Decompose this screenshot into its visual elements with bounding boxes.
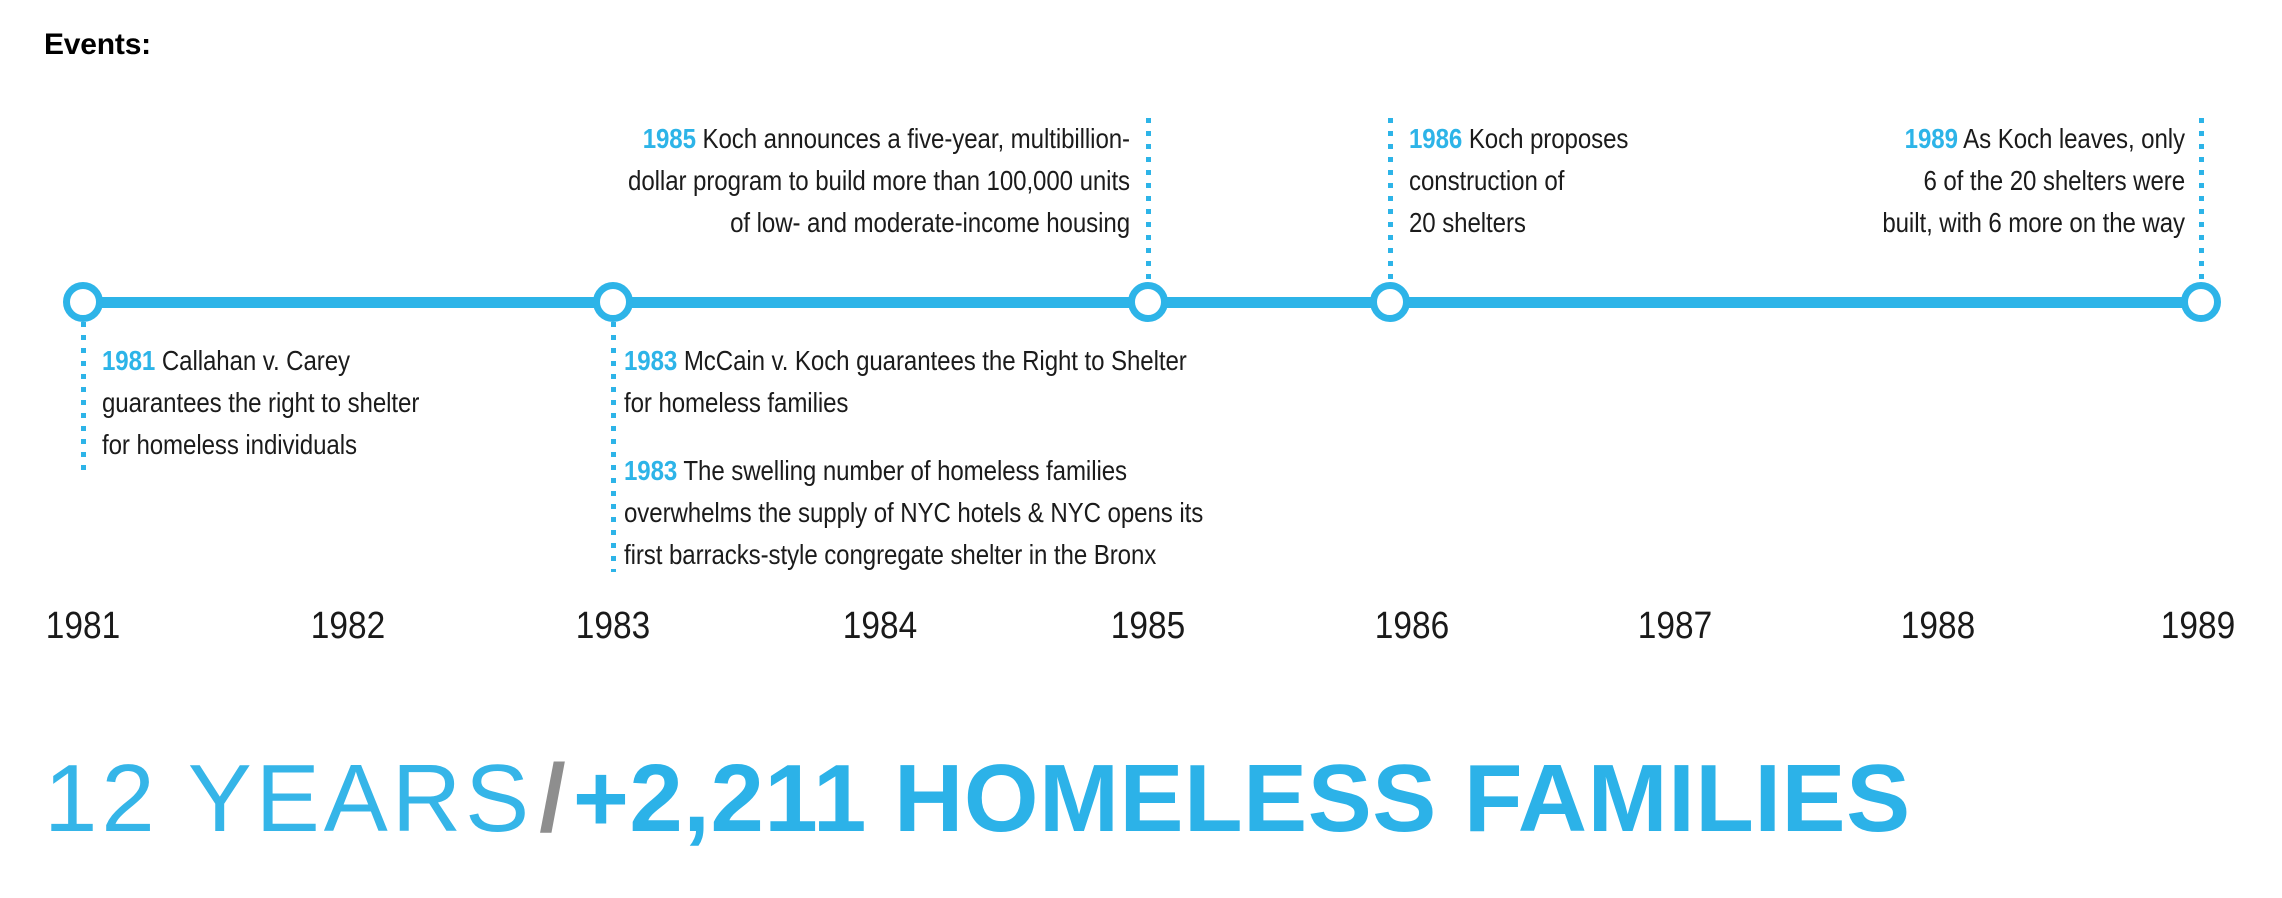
axis-year-label-1985: 1985 [1060, 605, 1236, 648]
axis-year-label-1982: 1982 [260, 605, 436, 648]
summary-duration: 12 YEARS [44, 745, 533, 852]
axis-year-label-1983: 1983 [525, 605, 701, 648]
event-text-1983-shelter-line1: The swelling number of homeless families [683, 455, 1127, 486]
event-annotation-1983-mccain: 1983 McCain v. Koch guarantees the Right… [624, 340, 1312, 424]
axis-year-label-1986: 1986 [1324, 605, 1500, 648]
axis-year-label-1981: 1981 [0, 605, 171, 648]
event-annotation-1989: 1989 As Koch leaves, only 6 of the 20 sh… [1798, 118, 2185, 244]
event-text-1983-mccain-line2: for homeless families [624, 387, 848, 418]
axis-year-label-1989: 1989 [2110, 605, 2282, 648]
connector-dotted-1983-below [611, 322, 616, 572]
timeline-infographic: Events: 1985 Koch announces a five-year,… [0, 0, 2282, 898]
event-text-1985-line1: Koch announces a five-year, multibillion… [703, 123, 1130, 154]
timeline-node-1986[interactable] [1370, 282, 1410, 322]
event-text-1981-line1: Callahan v. Carey [162, 345, 350, 376]
event-text-1986-line3: 20 shelters [1409, 207, 1526, 238]
event-year-1989: 1989 [1905, 123, 1958, 154]
event-year-1983-mccain: 1983 [624, 345, 677, 376]
event-text-1983-shelter-line3: first barracks-style congregate shelter … [624, 539, 1156, 570]
timeline-node-1981[interactable] [63, 282, 103, 322]
event-annotation-1981: 1981 Callahan v. Carey guarantees the ri… [102, 340, 549, 466]
connector-dotted-1985-above [1146, 118, 1151, 298]
event-text-1981-line2: guarantees the right to shelter [102, 387, 419, 418]
connector-dotted-1989-above [2199, 118, 2204, 298]
summary-separator: / [533, 745, 573, 852]
event-annotation-1986: 1986 Koch proposes construction of 20 sh… [1409, 118, 1693, 244]
connector-dotted-1986-above [1388, 118, 1393, 298]
event-annotation-1983-shelter: 1983 The swelling number of homeless fam… [624, 450, 1312, 576]
event-text-1989-line1: As Koch leaves, only [1963, 123, 2185, 154]
event-text-1986-line1: Koch proposes [1469, 123, 1629, 154]
event-text-1983-shelter-line2: overwhelms the supply of NYC hotels & NY… [624, 497, 1203, 528]
event-text-1983-mccain-line1: McCain v. Koch guarantees the Right to S… [684, 345, 1187, 376]
event-year-1986: 1986 [1409, 123, 1462, 154]
event-text-1981-line3: for homeless individuals [102, 429, 357, 460]
event-text-1989-line2: 6 of the 20 shelters were [1923, 165, 2185, 196]
timeline-node-1983[interactable] [593, 282, 633, 322]
axis-year-label-1984: 1984 [792, 605, 968, 648]
axis-year-label-1988: 1988 [1850, 605, 2026, 648]
timeline-node-1989[interactable] [2181, 282, 2221, 322]
event-text-1986-line2: construction of [1409, 165, 1564, 196]
event-year-1985: 1985 [643, 123, 696, 154]
event-year-1981: 1981 [102, 345, 155, 376]
event-annotation-1985: 1985 Koch announces a five-year, multibi… [468, 118, 1130, 244]
summary-headline: 12 YEARS/+2,211 HOMELESS FAMILIES [44, 744, 1911, 854]
event-text-1985-line2: dollar program to build more than 100,00… [628, 165, 1130, 196]
connector-dotted-1981-below [81, 322, 86, 472]
page-title: Events: [44, 28, 151, 62]
event-year-1983-shelter: 1983 [624, 455, 677, 486]
timeline-node-1985[interactable] [1128, 282, 1168, 322]
axis-year-label-1987: 1987 [1587, 605, 1763, 648]
event-text-1989-line3: built, with 6 more on the way [1882, 207, 2185, 238]
summary-change: +2,211 HOMELESS FAMILIES [573, 745, 1911, 852]
event-text-1985-line3: of low- and moderate-income housing [730, 207, 1130, 238]
